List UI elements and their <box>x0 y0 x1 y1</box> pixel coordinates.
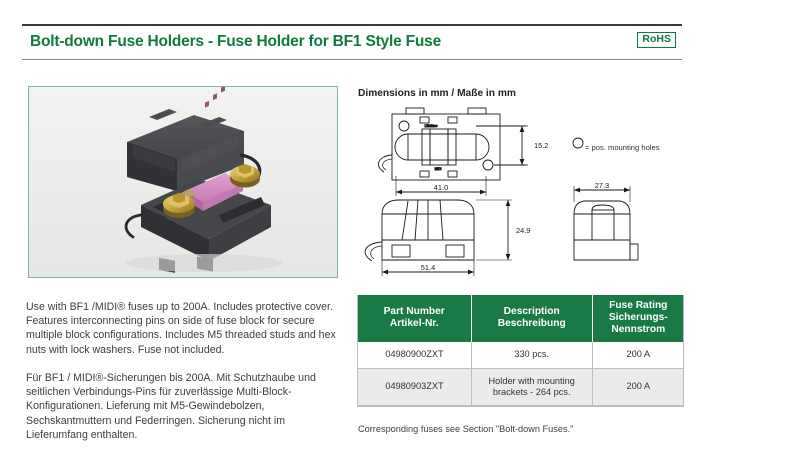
parts-table: Part Number Artikel-Nr. Description Besc… <box>357 295 684 407</box>
dim-label-height-top: 15.2 <box>534 141 548 150</box>
column-header-description: Description Beschreibung <box>471 295 592 342</box>
cell-description: Holder with mounting brackets - 264 pcs. <box>471 368 592 406</box>
column-header-line3: Nennstrom <box>595 324 682 336</box>
column-header-line1: Description <box>474 306 590 318</box>
side-view-drawing <box>574 201 638 260</box>
dim-label-width-top: 41.0 <box>434 183 448 192</box>
product-photo-image <box>29 87 338 278</box>
table-header-row: Part Number Artikel-Nr. Description Besc… <box>358 295 685 342</box>
table-row: 04980903ZXT Holder with mounting bracket… <box>358 368 685 406</box>
column-header-line1: Part Number <box>360 306 469 318</box>
rohs-badge: RoHS <box>637 32 676 48</box>
dim-label-height-front: 24.9 <box>516 226 530 235</box>
column-header-part-number: Part Number Artikel-Nr. <box>358 295 472 342</box>
drawing-svg: Littelfuse MIDI <box>356 102 686 282</box>
mounting-holes-legend: = pos. mounting holes <box>585 143 660 152</box>
page-header: Bolt-down Fuse Holders - Fuse Holder for… <box>22 24 682 60</box>
svg-text:Littelfuse: Littelfuse <box>425 124 438 128</box>
column-header-fuse-rating: Fuse Rating Sicherungs- Nennstrom <box>592 295 684 342</box>
description-english: Use with BF1 /MIDI® fuses up to 200A. In… <box>26 300 336 357</box>
mounting-hole-bottom-right <box>483 160 493 170</box>
cell-fuse-rating: 200 A <box>592 368 684 406</box>
description-german: Für BF1 / MIDI®-Sicherungen bis 200A. Mi… <box>26 371 336 442</box>
front-view-drawing <box>365 200 474 261</box>
cell-part-number: 04980900ZXT <box>358 342 472 368</box>
table-row: 04980900ZXT 330 pcs. 200 A <box>358 342 685 368</box>
cell-fuse-rating: 200 A <box>592 342 684 368</box>
legend-circle-icon <box>573 138 583 148</box>
dim-label-width-front: 51.4 <box>421 263 435 272</box>
page-title: Bolt-down Fuse Holders - Fuse Holder for… <box>30 33 441 51</box>
dim-label-width-side: 27.3 <box>595 181 609 190</box>
column-header-line2: Sicherungs- <box>595 312 682 324</box>
table-footnote: Corresponding fuses see Section "Bolt-do… <box>358 424 573 434</box>
column-header-line2: Artikel-Nr. <box>360 318 469 330</box>
mounting-hole-top-left <box>399 121 409 131</box>
cell-description: 330 pcs. <box>471 342 592 368</box>
svg-text:MIDI: MIDI <box>435 167 442 171</box>
dimensions-title: Dimensions in mm / Maße in mm <box>358 88 516 99</box>
column-header-line2: Beschreibung <box>474 318 590 330</box>
technical-drawings: Littelfuse MIDI <box>356 102 686 282</box>
cell-part-number: 04980903ZXT <box>358 368 472 406</box>
product-photo <box>28 86 338 278</box>
column-header-line1: Fuse Rating <box>595 300 682 312</box>
